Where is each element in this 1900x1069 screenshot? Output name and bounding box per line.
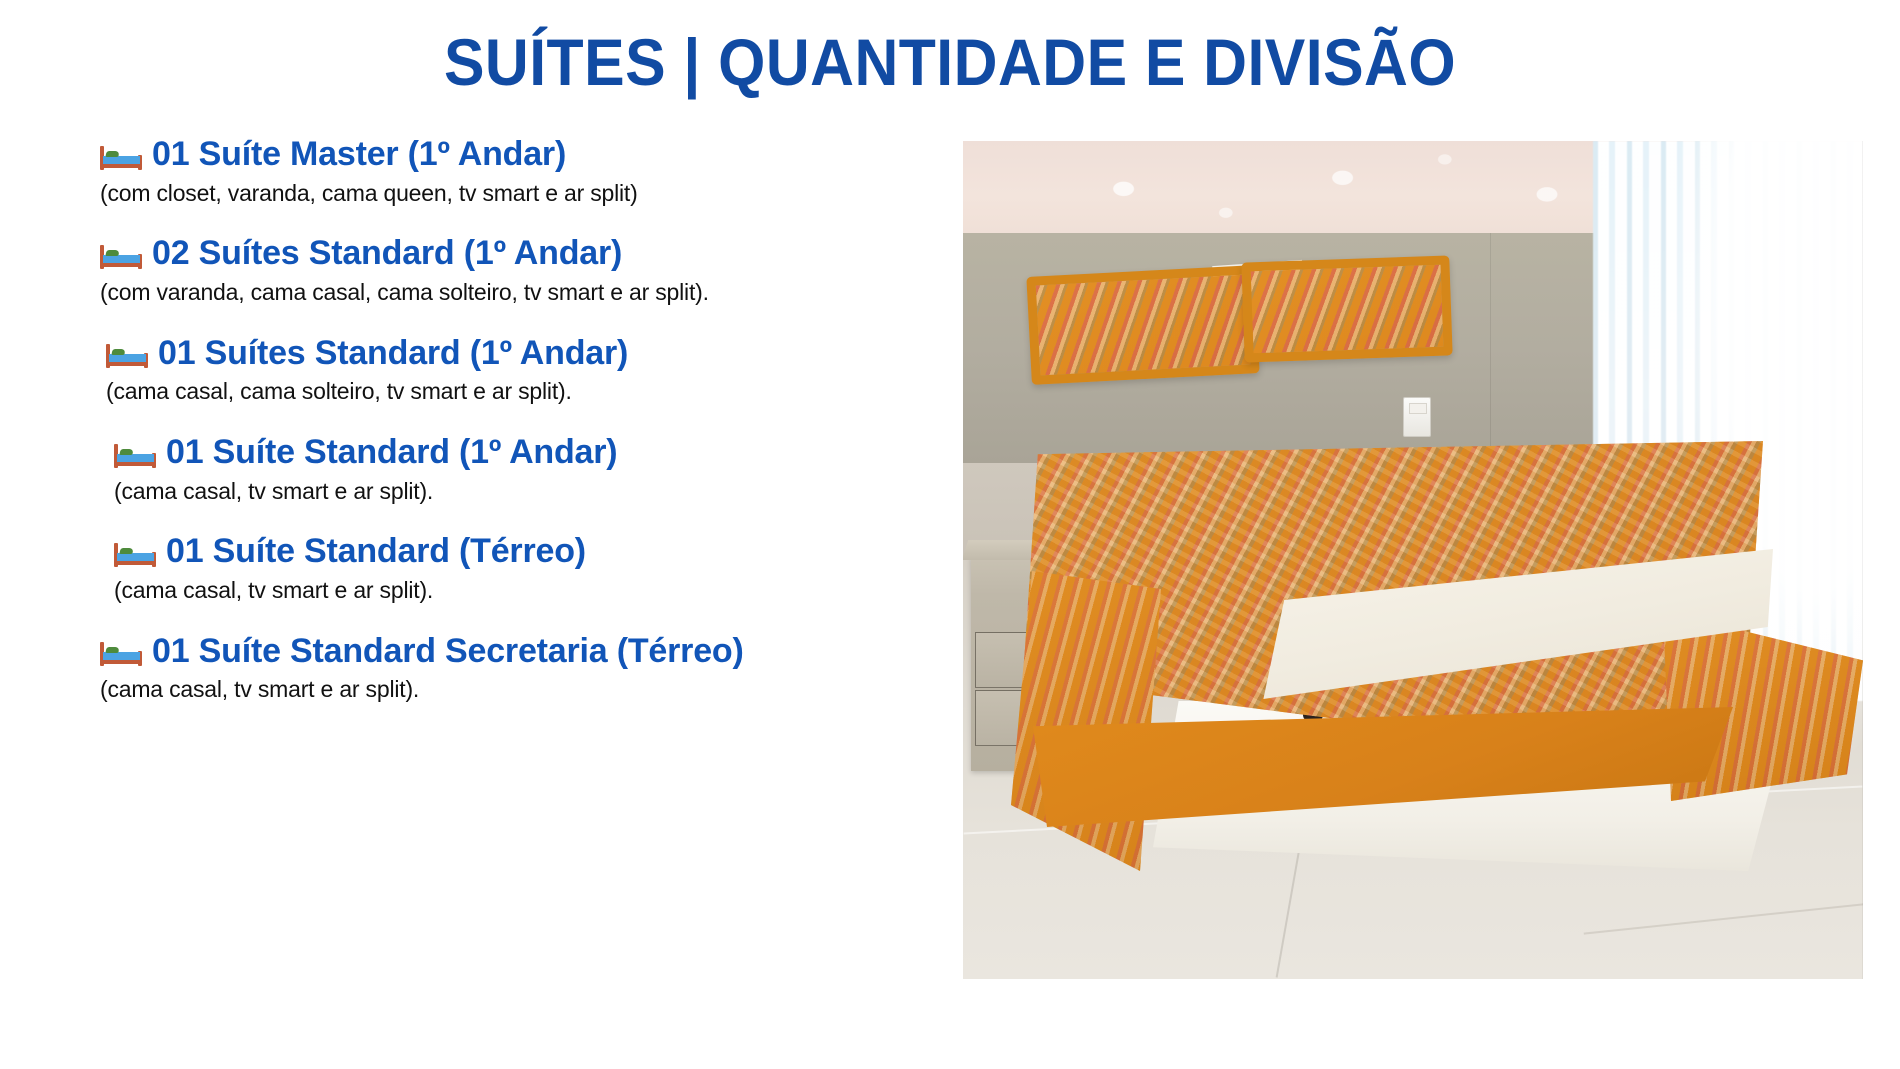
suite-title: 01 Suíte Standard (1º Andar)	[166, 434, 617, 471]
suite-title: 02 Suítes Standard (1º Andar)	[152, 235, 622, 272]
presentation-slide: SUÍTES | QUANTIDADE E DIVISÃO 01 Suíte M…	[0, 0, 1900, 1069]
bed-icon	[114, 541, 156, 567]
bed-icon	[100, 640, 142, 666]
bed-icon	[106, 342, 148, 368]
bed-icon	[100, 243, 142, 269]
list-item: 02 Suítes Standard (1º Andar) (com varan…	[100, 235, 930, 306]
pillow	[1241, 255, 1452, 362]
light-switch-icon	[1403, 397, 1431, 437]
suite-title: 01 Suíte Standard Secretaria (Térreo)	[152, 633, 744, 670]
suite-heading-row: 01 Suíte Standard Secretaria (Térreo)	[100, 633, 930, 670]
suite-details: (cama casal, cama solteiro, tv smart e a…	[106, 378, 930, 406]
list-item: 01 Suíte Master (1º Andar) (com closet, …	[100, 136, 930, 207]
bed-icon	[114, 442, 156, 468]
suite-heading-row: 02 Suítes Standard (1º Andar)	[100, 235, 930, 272]
suite-heading-row: 01 Suíte Master (1º Andar)	[100, 136, 930, 173]
suite-heading-row: 01 Suíte Standard (1º Andar)	[114, 434, 930, 471]
suite-heading-row: 01 Suítes Standard (1º Andar)	[106, 335, 930, 372]
suites-list: 01 Suíte Master (1º Andar) (com closet, …	[100, 136, 930, 704]
suite-title: 01 Suíte Standard (Térreo)	[166, 533, 586, 570]
suite-heading-row: 01 Suíte Standard (Térreo)	[114, 533, 930, 570]
suite-details: (cama casal, tv smart e ar split).	[114, 478, 930, 506]
photo-scene	[963, 141, 1863, 979]
list-item: 01 Suíte Standard (Térreo) (cama casal, …	[100, 533, 930, 604]
page-title: SUÍTES | QUANTIDADE E DIVISÃO	[76, 28, 1824, 97]
suite-details: (com varanda, cama casal, cama solteiro,…	[100, 279, 930, 307]
suite-details: (com closet, varanda, cama queen, tv sma…	[100, 180, 930, 208]
photo-edge	[1862, 141, 1863, 979]
list-item: 01 Suíte Standard Secretaria (Térreo) (c…	[100, 633, 930, 704]
wallpaper-damask	[963, 141, 1693, 233]
pillow	[1026, 265, 1259, 385]
suite-title: 01 Suítes Standard (1º Andar)	[158, 335, 628, 372]
bedroom-photo	[963, 141, 1863, 979]
bed-icon	[100, 144, 142, 170]
list-item: 01 Suíte Standard (1º Andar) (cama casal…	[100, 434, 930, 505]
suite-details: (cama casal, tv smart e ar split).	[114, 577, 930, 605]
list-item: 01 Suítes Standard (1º Andar) (cama casa…	[100, 335, 930, 406]
suite-title: 01 Suíte Master (1º Andar)	[152, 136, 566, 173]
suite-details: (cama casal, tv smart e ar split).	[100, 676, 930, 704]
